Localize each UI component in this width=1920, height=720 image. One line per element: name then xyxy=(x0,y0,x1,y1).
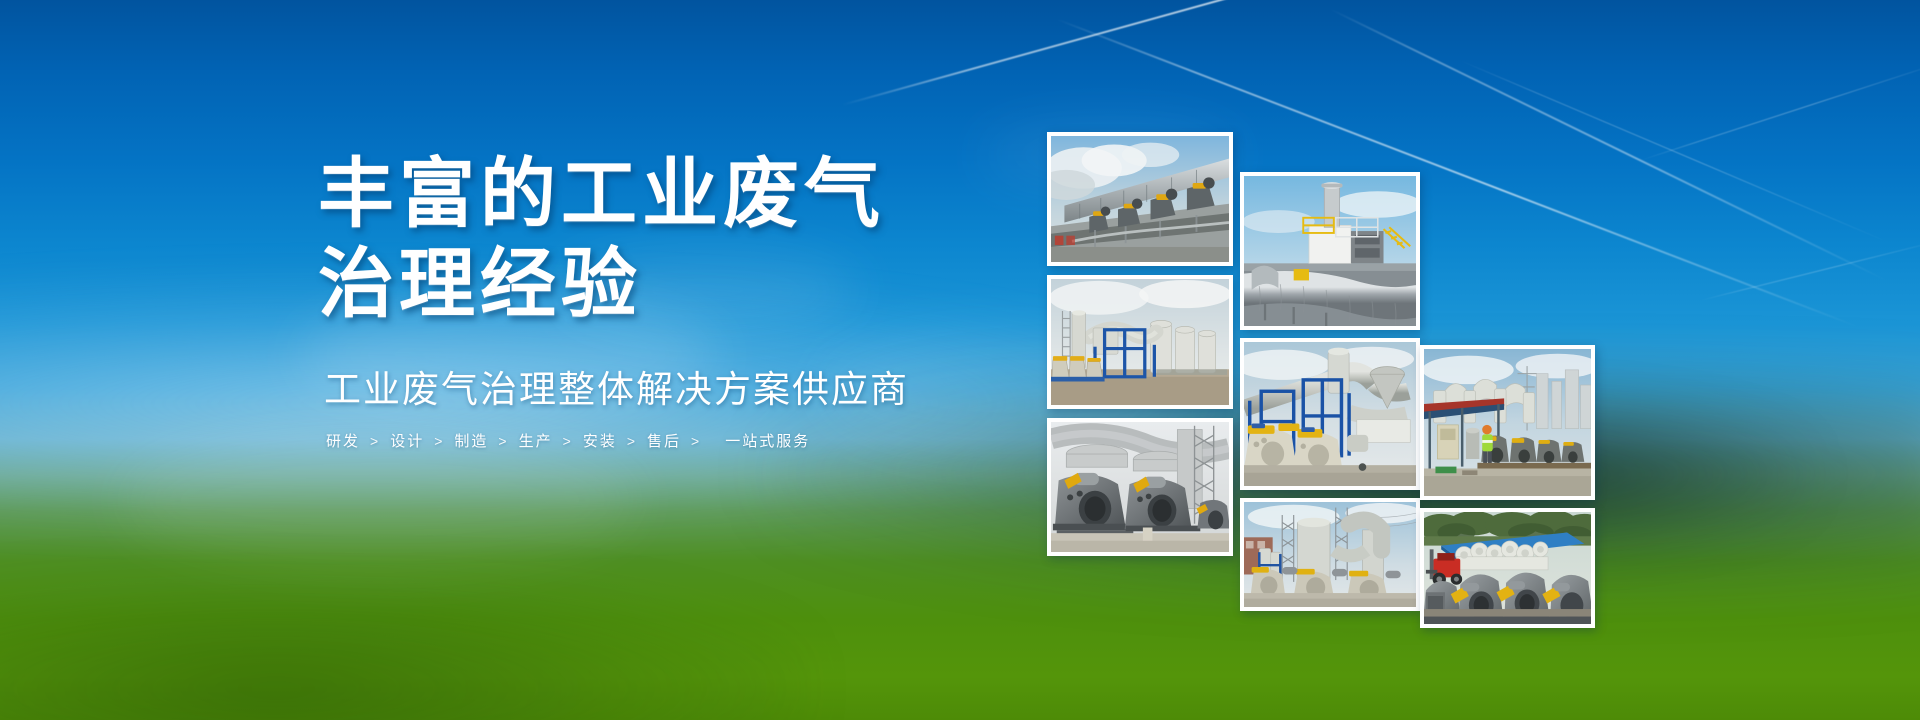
hero-banner: 丰富的工业废气 治理经验 工业废气治理整体解决方案供应商 研发 > 设计 > 制… xyxy=(0,0,1920,720)
photo-2-image xyxy=(1051,279,1229,405)
photo-4-image xyxy=(1244,176,1416,326)
collage-photo-5[interactable] xyxy=(1240,338,1420,490)
process-step-anzhuang: 安装 xyxy=(583,430,617,451)
hero-subtitle: 工业废气治理整体解决方案供应商 xyxy=(324,366,958,414)
chevron-right-icon: > xyxy=(691,433,701,449)
process-step-onestop: 一站式服务 xyxy=(725,430,810,451)
collage-photo-7[interactable] xyxy=(1420,345,1595,500)
process-step-sheji: 设计 xyxy=(390,430,424,451)
headline-line-1: 丰富的工业废气 xyxy=(318,150,958,240)
chevron-right-icon: > xyxy=(434,433,444,449)
photo-5-image xyxy=(1244,342,1416,486)
process-step-shouhou: 售后 xyxy=(647,430,681,451)
chevron-right-icon: > xyxy=(498,433,508,449)
cloud-wisp-icon xyxy=(120,430,640,570)
project-photo-collage xyxy=(1040,120,1610,650)
process-step-yanfa: 研发 xyxy=(326,430,360,451)
collage-photo-3[interactable] xyxy=(1047,418,1233,556)
process-step-list: 研发 > 设计 > 制造 > 生产 > 安装 > 售后 > 一站式服务 xyxy=(326,430,958,451)
collage-photo-8[interactable] xyxy=(1420,508,1595,628)
headline-line-2: 治理经验 xyxy=(318,240,958,330)
process-step-zhizao: 制造 xyxy=(454,430,488,451)
photo-7-image xyxy=(1424,349,1591,496)
collage-photo-1[interactable] xyxy=(1047,132,1233,266)
collage-photo-4[interactable] xyxy=(1240,172,1420,330)
photo-6-image xyxy=(1244,502,1416,607)
hero-copy-block: 丰富的工业废气 治理经验 工业废气治理整体解决方案供应商 研发 > 设计 > 制… xyxy=(318,150,958,451)
photo-8-image xyxy=(1424,512,1591,624)
chevron-right-icon: > xyxy=(563,433,573,449)
collage-photo-2[interactable] xyxy=(1047,275,1233,409)
collage-photo-6[interactable] xyxy=(1240,498,1420,611)
photo-3-image xyxy=(1051,422,1229,552)
chevron-right-icon: > xyxy=(370,433,380,449)
photo-1-image xyxy=(1051,136,1229,262)
grass-shadow xyxy=(0,576,806,720)
chevron-right-icon: > xyxy=(627,433,637,449)
process-step-shengchan: 生产 xyxy=(519,430,553,451)
